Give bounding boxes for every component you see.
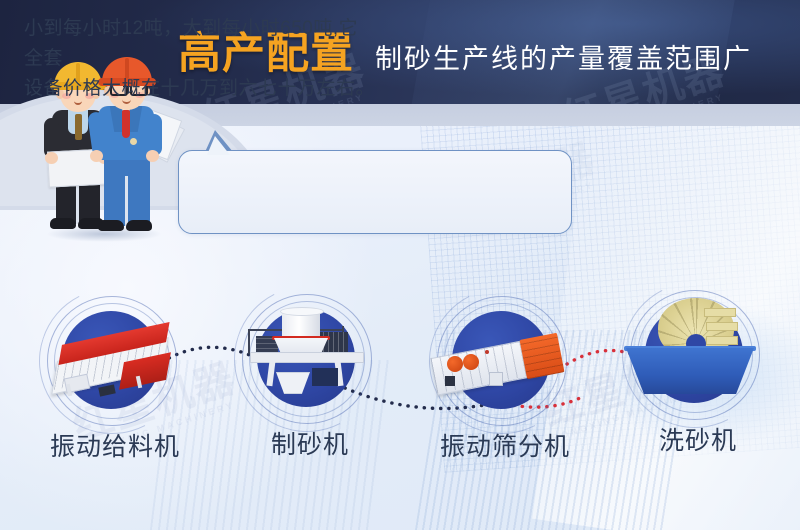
- vsi-platform: [250, 352, 364, 363]
- callout-tail-fill: [207, 136, 230, 155]
- hand-right: [146, 150, 159, 162]
- node-label: 制砂机: [220, 430, 400, 460]
- button: [130, 138, 137, 145]
- flow-node-sand-making-machine[interactable]: 制砂机: [220, 290, 400, 475]
- callout-bubble: [178, 150, 572, 234]
- vsi-leg-left: [266, 360, 275, 387]
- flow-node-sand-washing-machine[interactable]: 洗砂机: [608, 286, 788, 471]
- screen-discharge-ribs: [520, 333, 565, 380]
- washer-blade-1: [704, 308, 736, 317]
- tie: [122, 110, 130, 138]
- leg-split: [125, 176, 128, 226]
- node-label: 振动筛分机: [415, 432, 595, 462]
- shoe-left: [98, 220, 124, 231]
- vsi-discharge-block: [312, 368, 338, 386]
- shoe-left: [50, 218, 76, 229]
- screen-support-left: [445, 376, 455, 386]
- screen-flywheel-2: [463, 354, 479, 370]
- callout-line-2: 设备价格大概在十几万到六七十万左右。: [24, 74, 376, 104]
- machine-image-sand-making-machine: [220, 290, 400, 430]
- feeder-base-block: [98, 384, 116, 396]
- shoe-right: [126, 220, 152, 231]
- vsi-rail-left: [248, 330, 250, 354]
- hand-left: [90, 150, 103, 162]
- page-subtitle: 制砂生产线的产量覆盖范围广: [375, 43, 752, 75]
- washer-blade-2: [706, 322, 738, 331]
- screen-support-right: [489, 372, 503, 386]
- screen-flywheel-1: [447, 356, 463, 372]
- callout-line-1: 小到每小时12吨，大到每小时650吨,它全套: [24, 14, 376, 74]
- washer-tank: [626, 348, 754, 394]
- infographic-poster: 红星机器 HONGXING MACHINERY 红星机器 HONGXING MA…: [0, 0, 800, 530]
- flow-node-vibrating-feeder[interactable]: 振动给料机: [25, 292, 205, 477]
- node-label: 振动给料机: [25, 432, 205, 462]
- flow-node-vibrating-screen[interactable]: 振动筛分机: [415, 292, 595, 477]
- screen-marker: [485, 350, 489, 354]
- vsi-hopper: [276, 372, 310, 394]
- machine-image-vibrating-screen: [415, 292, 595, 432]
- machine-image-vibrating-feeder: [25, 292, 205, 432]
- callout-text: 小到每小时12吨，大到每小时650吨,它全套 设备价格大概在十几万到六七十万左右…: [24, 14, 376, 104]
- washer-blade-3: [706, 336, 738, 345]
- tie: [75, 114, 82, 140]
- machine-image-sand-washing-machine: [608, 286, 788, 426]
- hand-left: [45, 152, 58, 164]
- node-label: 洗砂机: [608, 426, 788, 456]
- vsi-drum-top: [280, 307, 324, 316]
